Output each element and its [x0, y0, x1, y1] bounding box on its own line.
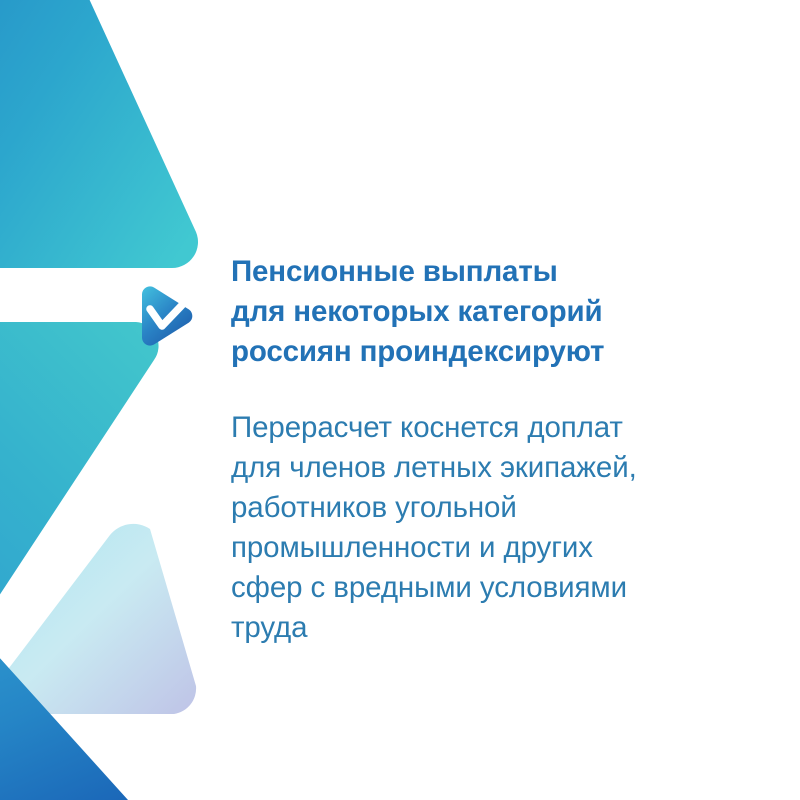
content-layer: Пенсионные выплаты для некоторых категор…: [0, 0, 800, 800]
text-block: Пенсионные выплаты для некоторых категор…: [231, 252, 771, 648]
body-copy: Перерасчет коснется доплат для членов ле…: [231, 372, 771, 648]
headline: Пенсионные выплаты для некоторых категор…: [231, 252, 771, 372]
checkmark-logo-icon: [137, 286, 195, 346]
poster-canvas: Пенсионные выплаты для некоторых категор…: [0, 0, 800, 800]
